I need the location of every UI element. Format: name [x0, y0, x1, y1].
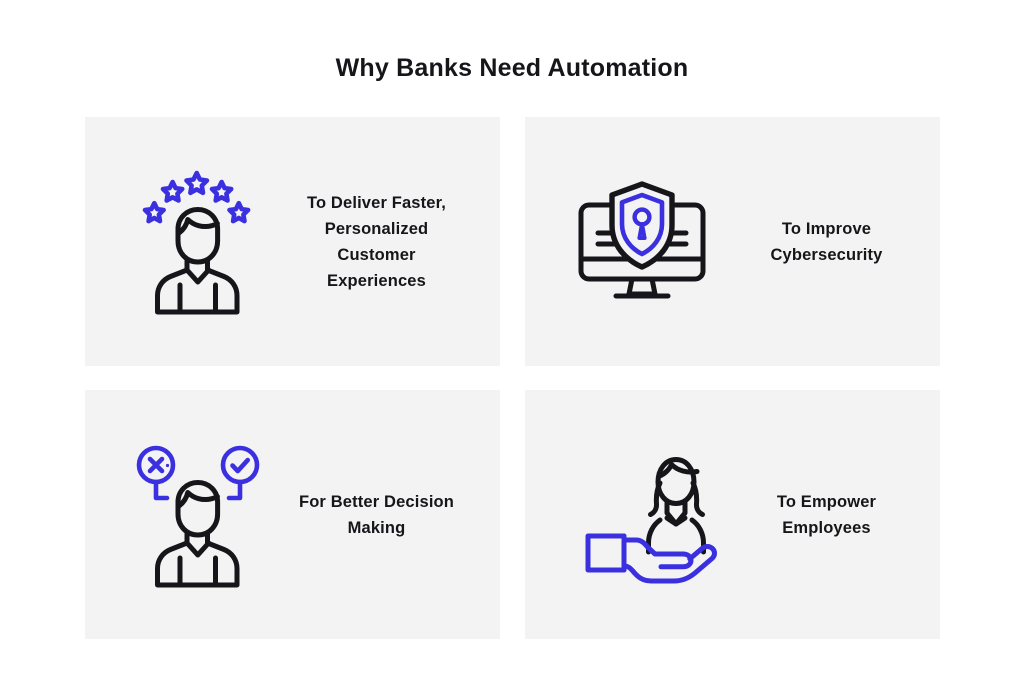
card-label: For Better Decision Making — [282, 489, 472, 541]
infographic-page: Why Banks Need Automation — [0, 0, 1024, 683]
card-improve-cybersecurity[interactable]: To Improve Cybersecurity — [525, 117, 940, 366]
card-label: To Improve Cybersecurity — [732, 216, 922, 268]
monitor-with-shield-lock-icon — [562, 162, 722, 322]
card-empower-employees[interactable]: To Empower Employees — [525, 390, 940, 639]
card-label: To Empower Employees — [732, 489, 922, 541]
benefits-card-grid: To Deliver Faster, Personalized Customer… — [85, 117, 940, 639]
person-with-check-and-cross-bubbles-icon — [118, 435, 278, 595]
page-title: Why Banks Need Automation — [0, 51, 1024, 85]
card-label: To Deliver Faster, Personalized Customer… — [282, 190, 472, 294]
card-better-decision-making[interactable]: For Better Decision Making — [85, 390, 500, 639]
hand-holding-employee-icon — [562, 435, 722, 595]
person-with-five-stars-icon — [118, 162, 278, 322]
card-deliver-faster-personalized-customer-experiences[interactable]: To Deliver Faster, Personalized Customer… — [85, 117, 500, 366]
